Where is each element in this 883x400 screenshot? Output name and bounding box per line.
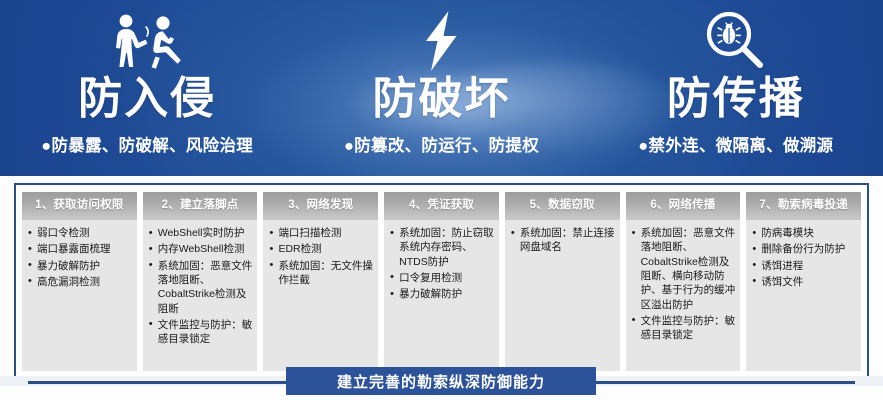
stage-card-body: 防病毒模块 删除备份行为防护 诱饵进程 诱饵文件 [746,220,861,371]
hero-subtitle: ●防篡改、防运行、防提权 [344,132,539,156]
hero-subtitle: ●禁外连、微隔离、做溯源 [638,132,833,156]
stage-item-list: 弱口令检测 端口暴露面梳理 暴力破解防护 高危漏洞检测 [28,226,132,289]
hero-title: 防破坏 [372,76,510,122]
stage-card-list: 1、获取访问权限 弱口令检测 端口暴露面梳理 暴力破解防护 高危漏洞检测 2、建… [16,185,867,377]
hero-columns: 防入侵 ●防暴露、防破解、风险治理 防破坏 ●防篡改、防运行、防提权 [0,0,883,176]
attack-stage-panel: 1、获取访问权限 弱口令检测 端口暴露面梳理 暴力破解防护 高危漏洞检测 2、建… [14,183,869,379]
stage-card-body: 系统加固：禁止连接网盘域名 [505,220,620,371]
list-item: 文件监控与防护：敏感目录锁定 [149,318,253,347]
list-item: 端口扫描检测 [269,226,373,240]
list-item: 诱饵文件 [752,275,856,289]
list-item: 系统加固：恶意文件落地阻断、CobaltStrike检测及阻断 [149,259,253,316]
stage-item-list: 系统加固：禁止连接网盘域名 [511,226,615,255]
hero-title: 防传播 [667,76,805,122]
stage-item-list: WebShell实时防护 内存WebShell检测 系统加固：恶意文件落地阻断、… [149,226,253,346]
hero-column-anti-destruction: 防破坏 ●防篡改、防运行、防提权 [294,0,588,176]
list-item: 内存WebShell检测 [149,242,253,256]
hero-column-anti-propagation: 防传播 ●禁外连、微隔离、做溯源 [589,0,883,176]
list-item: 诱饵进程 [752,259,856,273]
stage-card-body: WebShell实时防护 内存WebShell检测 系统加固：恶意文件落地阻断、… [143,220,258,371]
list-item: WebShell实时防护 [149,226,253,240]
infographic-root: 防入侵 ●防暴露、防破解、风险治理 防破坏 ●防篡改、防运行、防提权 [0,0,883,400]
stage-card: 3、网络发现 端口扫描检测 EDR检测 系统加固：无文件操作拦截 [263,192,378,371]
intrusion-figures-icon [111,8,183,74]
stage-card-body: 端口扫描检测 EDR检测 系统加固：无文件操作拦截 [263,220,378,371]
list-item: 系统加固：防止窃取系统内存密码、NTDS防护 [390,226,494,269]
stage-card: 7、勒索病毒投递 防病毒模块 删除备份行为防护 诱饵进程 诱饵文件 [746,192,861,371]
stage-card: 4、凭证获取 系统加固：防止窃取系统内存密码、NTDS防护 口令复用检测 暴力破… [384,192,499,371]
list-item: 弱口令检测 [28,226,132,240]
stage-card-title: 2、建立落脚点 [143,192,258,220]
stage-card-body: 系统加固：恶意文件落地阻断、CobaltStrike检测及阻断、横向移动防护、基… [626,220,741,371]
list-item: EDR检测 [269,242,373,256]
list-item: 口令复用检测 [390,271,494,285]
hero-column-anti-intrusion: 防入侵 ●防暴露、防破解、风险治理 [0,0,294,176]
hero-title: 防入侵 [78,76,216,122]
stage-item-list: 系统加固：恶意文件落地阻断、CobaltStrike检测及阻断、横向移动防护、基… [632,226,736,342]
stage-card-body: 弱口令检测 端口暴露面梳理 暴力破解防护 高危漏洞检测 [22,220,137,371]
stage-item-list: 防病毒模块 删除备份行为防护 诱饵进程 诱饵文件 [752,226,856,289]
stage-card-title: 6、网络传播 [626,192,741,220]
list-item: 系统加固：无文件操作拦截 [269,259,373,288]
list-item: 暴力破解防护 [390,287,494,301]
stage-card-title: 1、获取访问权限 [22,192,137,220]
list-item: 系统加固：恶意文件落地阻断、CobaltStrike检测及阻断、横向移动防护、基… [632,226,736,312]
stage-card: 5、数据窃取 系统加固：禁止连接网盘域名 [505,192,620,371]
list-item: 删除备份行为防护 [752,242,856,256]
list-item: 暴力破解防护 [28,259,132,273]
magnifier-bug-icon [703,8,769,74]
lightning-bolt-icon [417,8,465,74]
list-item: 系统加固：禁止连接网盘域名 [511,226,615,255]
stage-card: 2、建立落脚点 WebShell实时防护 内存WebShell检测 系统加固：恶… [143,192,258,371]
hero-subtitle: ●防暴露、防破解、风险治理 [41,132,253,156]
stage-card-title: 4、凭证获取 [384,192,499,220]
list-item: 文件监控与防护：敏感目录锁定 [632,314,736,343]
stage-card: 1、获取访问权限 弱口令检测 端口暴露面梳理 暴力破解防护 高危漏洞检测 [22,192,137,371]
stage-card: 6、网络传播 系统加固：恶意文件落地阻断、CobaltStrike检测及阻断、横… [626,192,741,371]
stage-item-list: 端口扫描检测 EDR检测 系统加固：无文件操作拦截 [269,226,373,287]
stage-card-body: 系统加固：防止窃取系统内存密码、NTDS防护 口令复用检测 暴力破解防护 [384,220,499,371]
stage-card-title: 7、勒索病毒投递 [746,192,861,220]
stage-item-list: 系统加固：防止窃取系统内存密码、NTDS防护 口令复用检测 暴力破解防护 [390,226,494,301]
list-item: 端口暴露面梳理 [28,242,132,256]
stage-card-title: 3、网络发现 [263,192,378,220]
list-item: 高危漏洞检测 [28,275,132,289]
hero-banner: 防入侵 ●防暴露、防破解、风险治理 防破坏 ●防篡改、防运行、防提权 [0,0,883,176]
stage-card-title: 5、数据窃取 [505,192,620,220]
footer-caption: 建立完善的勒索纵深防御能力 [286,367,596,395]
list-item: 防病毒模块 [752,226,856,240]
